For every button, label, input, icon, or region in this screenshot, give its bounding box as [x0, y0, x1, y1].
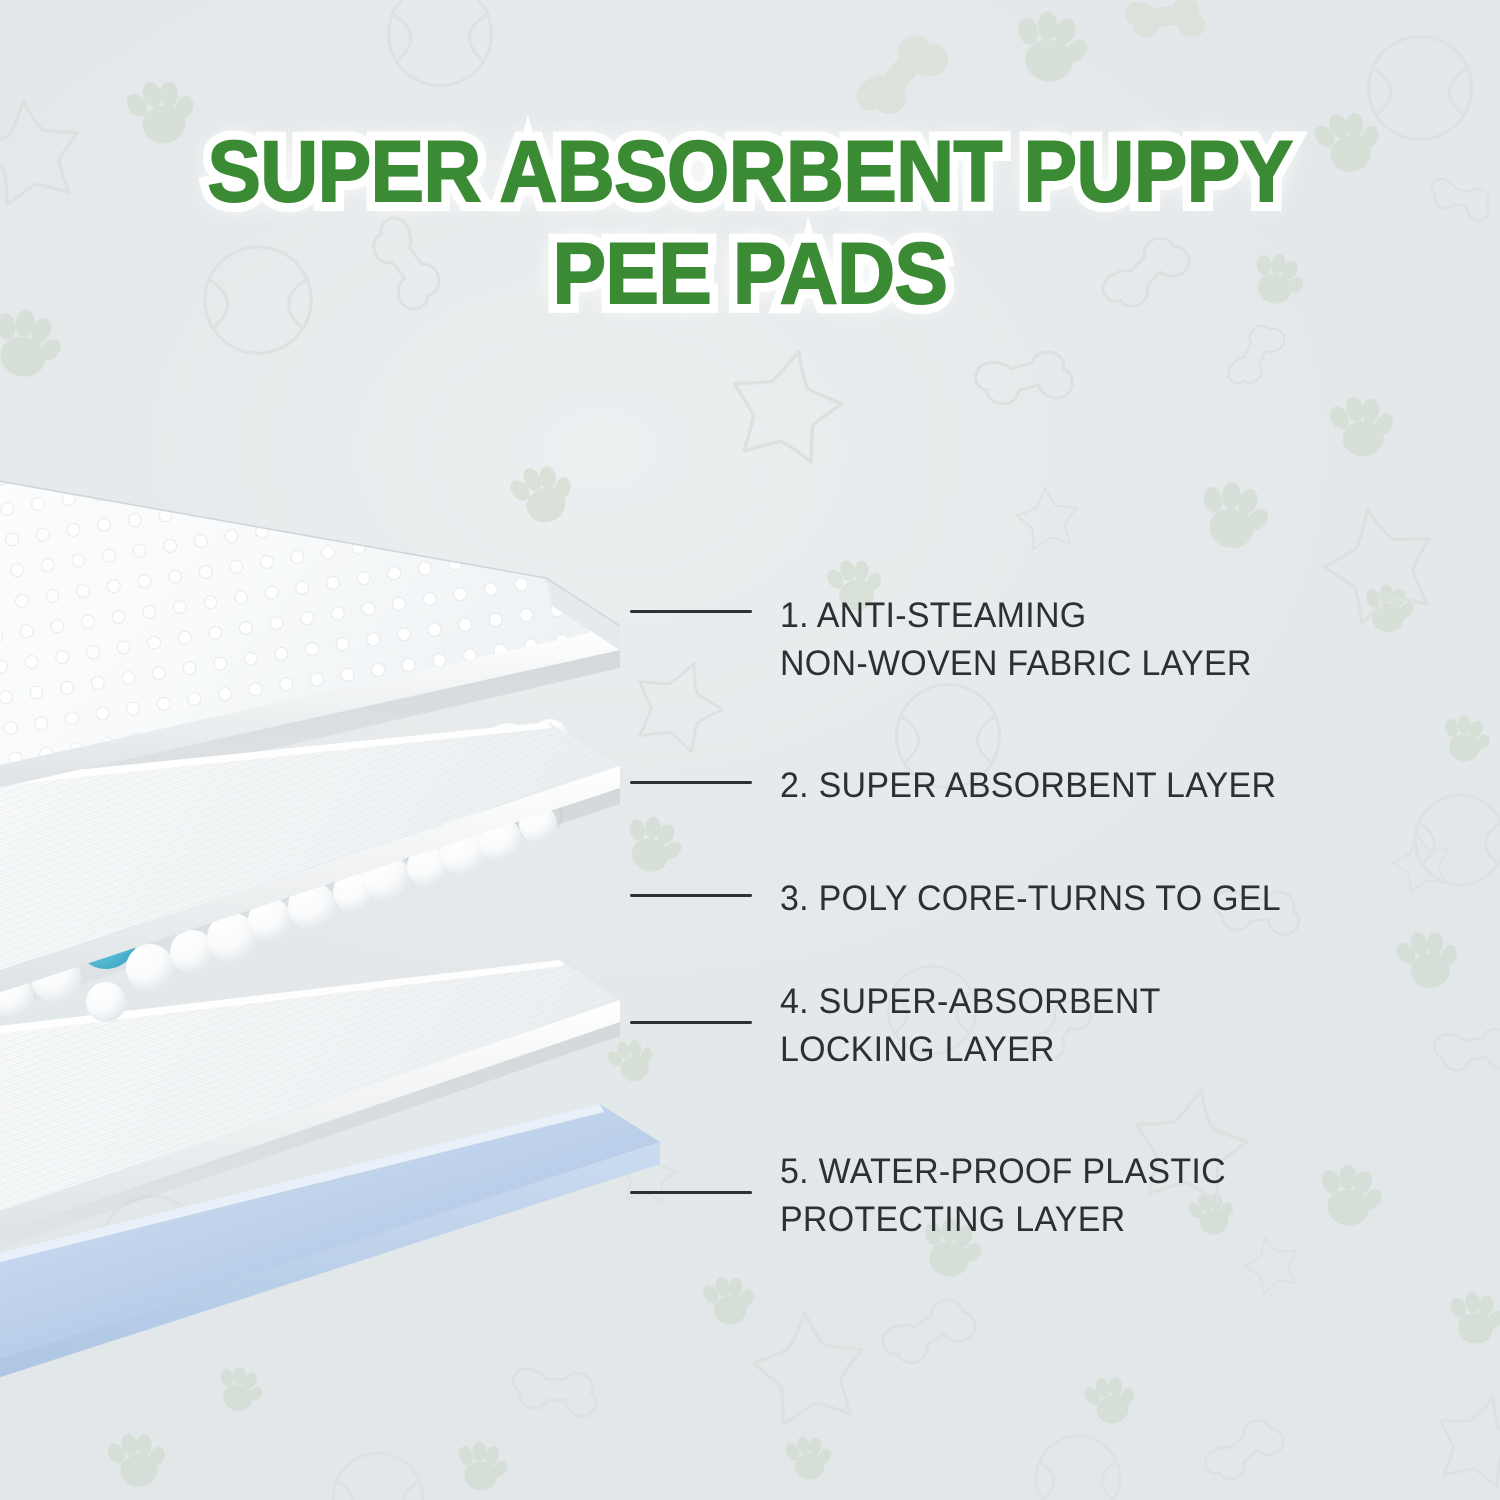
infographic-poster: SUPER ABSORBENT PUPPY SUPER ABSORBENT PU… [0, 0, 1500, 1500]
callout-label-4: 4. SUPER-ABSORBENT LOCKING LAYER [780, 978, 1161, 1074]
callout-label-5-line-2: PROTECTING LAYER [780, 1196, 1226, 1244]
callout-item-4: 4. SUPER-ABSORBENT LOCKING LAYER [630, 978, 1172, 1074]
callout-label-4-line-2: LOCKING LAYER [780, 1026, 1161, 1074]
leader-line-2 [630, 781, 752, 784]
callout-label-4-line-1: 4. SUPER-ABSORBENT [780, 978, 1161, 1026]
callout-label-3: 3. POLY CORE-TURNS TO GEL [780, 875, 1281, 923]
callout-item-1: 1. ANTI-STEAMING NON-WOVEN FABRIC LAYER [630, 592, 1266, 688]
callout-item-2: 2. SUPER ABSORBENT LAYER [630, 762, 1292, 810]
leader-line-5 [630, 1191, 752, 1194]
callout-label-5-line-1: 5. WATER-PROOF PLASTIC [780, 1148, 1226, 1196]
callout-label-2-line-1: 2. SUPER ABSORBENT LAYER [780, 762, 1276, 810]
leader-line-4 [630, 1021, 752, 1024]
callout-list: 1. ANTI-STEAMING NON-WOVEN FABRIC LAYER … [0, 0, 1500, 1500]
callout-label-1-line-2: NON-WOVEN FABRIC LAYER [780, 640, 1252, 688]
callout-item-5: 5. WATER-PROOF PLASTIC PROTECTING LAYER [630, 1148, 1240, 1244]
leader-line-1 [630, 610, 752, 613]
callout-label-2: 2. SUPER ABSORBENT LAYER [780, 762, 1276, 810]
leader-line-3 [630, 894, 752, 897]
callout-label-3-line-1: 3. POLY CORE-TURNS TO GEL [780, 875, 1281, 923]
callout-label-1: 1. ANTI-STEAMING NON-WOVEN FABRIC LAYER [780, 592, 1252, 688]
callout-label-5: 5. WATER-PROOF PLASTIC PROTECTING LAYER [780, 1148, 1226, 1244]
callout-item-3: 3. POLY CORE-TURNS TO GEL [630, 875, 1296, 923]
callout-label-1-line-1: 1. ANTI-STEAMING [780, 592, 1252, 640]
